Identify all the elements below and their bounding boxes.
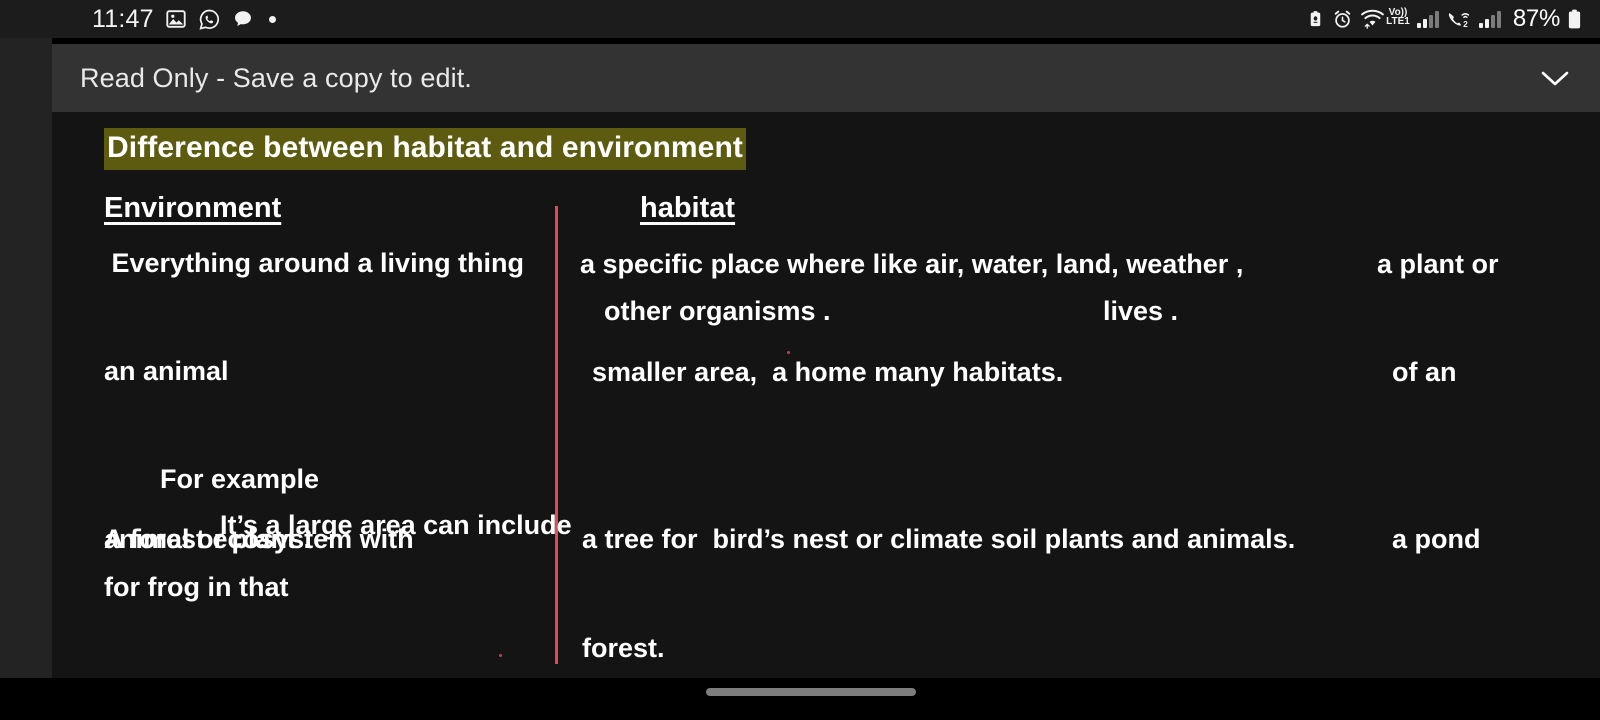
left-cell-row1-line1: Everything around a living thing	[104, 240, 524, 286]
status-bar-right: Vo)) LTE1 2 87%	[1306, 5, 1582, 33]
wifi-calling-icon: 2	[1446, 9, 1472, 30]
status-bar-left: 11:47	[92, 5, 276, 34]
signal-bars-sim1-icon	[1417, 10, 1439, 28]
whatsapp-icon	[198, 8, 221, 31]
right-cell-row1-sub-main: other organisms .	[604, 288, 831, 334]
right-cell-row2-main: smaller area, a home many habitats.	[592, 349, 1063, 395]
status-bar: 11:47	[0, 0, 1600, 38]
chevron-down-icon[interactable]	[1538, 67, 1572, 89]
wifi-icon	[1360, 9, 1385, 29]
right-cell-row1-sub-trail: lives .	[1103, 288, 1178, 334]
volte-indicator: Vo)) LTE1	[1386, 9, 1410, 26]
right-cell-row1-main: a specific place where like air, water, …	[580, 241, 1243, 287]
read-only-banner[interactable]: Read Only - Save a copy to edit.	[52, 44, 1600, 112]
column-header-environment: Environment	[104, 192, 281, 225]
battery-percent-label: 87%	[1513, 5, 1560, 33]
status-clock: 11:47	[92, 5, 154, 34]
column-header-habitat: habitat	[640, 192, 735, 225]
ink-mark-lower	[499, 654, 502, 657]
left-sidebar-rail	[0, 38, 52, 678]
right-cell-row1-trail: a plant or	[1377, 241, 1499, 287]
left-cell-row1-line2: an animal	[104, 348, 229, 394]
battery-saver-icon	[1306, 8, 1325, 30]
more-dot-icon	[269, 16, 276, 23]
phone-screen: 11:47	[0, 0, 1600, 720]
document-canvas[interactable]: Difference between habitat and environme…	[52, 112, 1600, 678]
document-title: Difference between habitat and environme…	[104, 128, 746, 170]
document-title-highlight: Difference between habitat and environme…	[104, 128, 746, 170]
svg-text:2: 2	[1463, 18, 1468, 28]
volte-bottom-label: LTE1	[1386, 18, 1410, 27]
message-icon	[232, 8, 254, 30]
home-gesture-bar[interactable]	[706, 688, 916, 696]
gallery-icon	[165, 8, 187, 30]
left-cell-row2-line2: animal or plant .	[104, 516, 311, 562]
alarm-icon	[1332, 9, 1353, 30]
right-cell-row2-trail: of an	[1392, 349, 1457, 395]
document-page: Difference between habitat and environme…	[52, 112, 1600, 678]
battery-icon	[1567, 8, 1582, 31]
read-only-banner-label: Read Only - Save a copy to edit.	[80, 63, 472, 94]
signal-bars-sim2-icon	[1479, 10, 1501, 28]
